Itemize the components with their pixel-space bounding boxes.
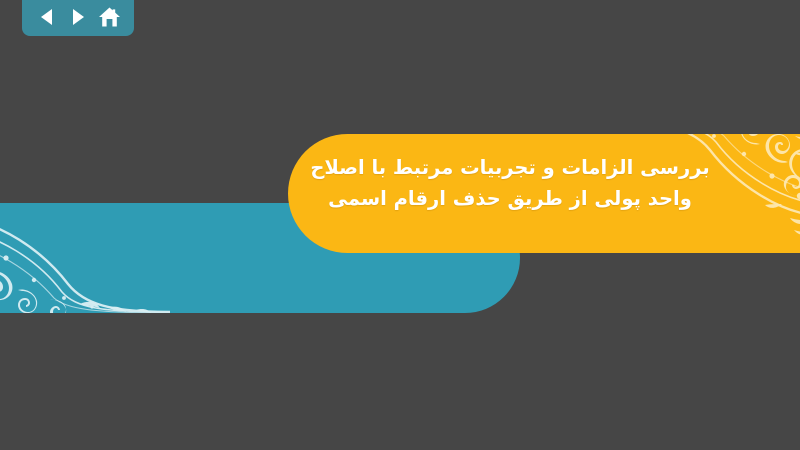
slide-canvas: بررسی الزامات و تجربیات مرتبط با اصلاح و… — [0, 0, 800, 450]
slide-title: بررسی الزامات و تجربیات مرتبط با اصلاح و… — [300, 152, 720, 214]
slide-title-line-2: واحد پولی از طریق حذف ارقام اسمی — [300, 183, 720, 214]
home-button[interactable] — [96, 4, 122, 30]
slide-title-line-1: بررسی الزامات و تجربیات مرتبط با اصلاح — [300, 152, 720, 183]
triangle-right-icon — [67, 6, 89, 28]
teal-arabesque-ornament-icon — [0, 203, 170, 313]
back-button[interactable] — [34, 4, 60, 30]
triangle-left-icon — [36, 6, 58, 28]
forward-button[interactable] — [65, 4, 91, 30]
navigation-bar — [22, 0, 134, 36]
home-icon — [98, 6, 121, 29]
